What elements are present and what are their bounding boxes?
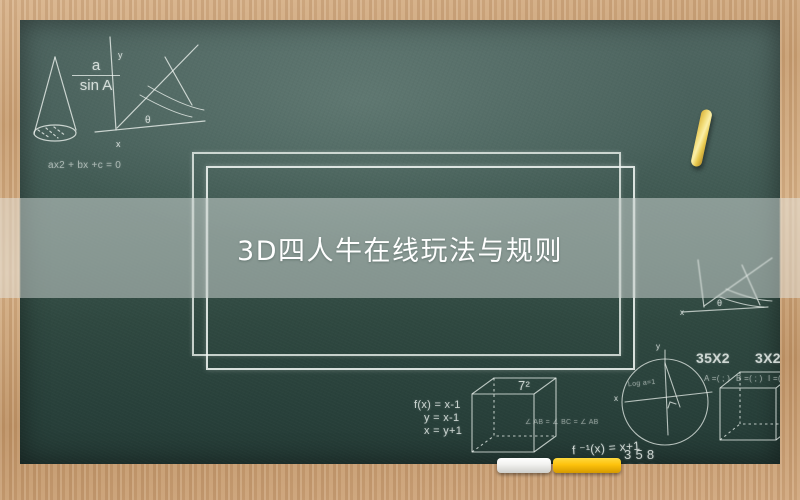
chalk-matrix-i: I =( ; ) bbox=[768, 374, 780, 383]
yellow-chalk-icon bbox=[553, 458, 621, 473]
chalk-matrix-b: B =( ; ) bbox=[736, 374, 763, 383]
chalkboard-banner: a sin A ax2 + bx +c = 0 y x θ θ x bbox=[0, 0, 800, 500]
page-title: 3D四人牛在线玩法与规则 bbox=[237, 229, 563, 268]
chalk-label-3x2: 3X2 bbox=[755, 350, 780, 366]
title-band: 3D四人牛在线玩法与规则 bbox=[0, 198, 800, 298]
white-eraser-icon bbox=[497, 458, 551, 473]
chalk-matrix-a: A =( ; ) bbox=[704, 374, 730, 383]
chalk-label-35x2: 35X2 bbox=[696, 350, 730, 366]
